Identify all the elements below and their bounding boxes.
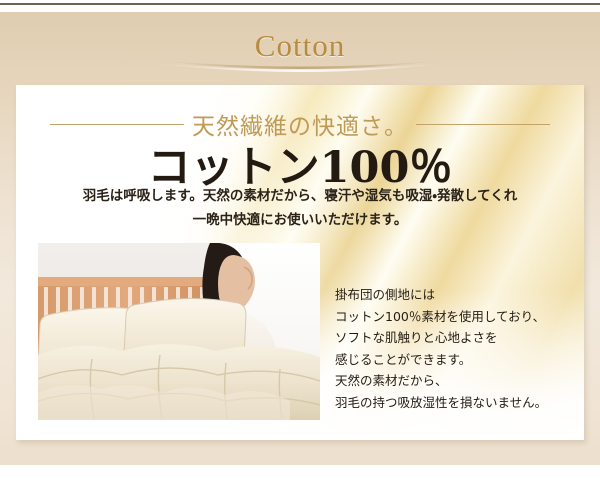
product-photo <box>38 243 320 420</box>
hero-lead-line: 一晩中快適にお使いいただけます。 <box>16 209 584 233</box>
description-line: ソフトな肌触りと心地よさを <box>335 327 584 349</box>
description-line: 天然の素材だから、 <box>335 370 584 392</box>
eyebrow-rule-left-icon <box>50 124 184 125</box>
product-description: 掛布団の側地には コットン100％素材を使用しており、 ソフトな肌触りと心地よさ… <box>335 284 584 413</box>
description-line: 羽毛の持つ吸放湿性を損ないません。 <box>335 392 584 414</box>
eyebrow-rule-right-icon <box>416 124 550 125</box>
hero-lead-line: 羽毛は呼吸します。天然の素材だから、寝汗や湿気も吸湿・発散してくれ <box>16 185 584 209</box>
hero-lead: 羽毛は呼吸します。天然の素材だから、寝汗や湿気も吸湿・発散してくれ 一晩中快適に… <box>16 185 584 232</box>
content-card: 天然繊維の快適さ。 コットン100％ 羽毛は呼吸します。天然の素材だから、寝汗や… <box>16 85 584 440</box>
brand-title: Cotton <box>0 28 600 64</box>
description-line: 掛布団の側地には <box>335 284 584 306</box>
top-divider <box>0 3 600 5</box>
description-line: 感じることができます。 <box>335 349 584 371</box>
description-line: コットン100％素材を使用しており、 <box>335 306 584 328</box>
promo-banner: Cotton <box>0 0 600 495</box>
